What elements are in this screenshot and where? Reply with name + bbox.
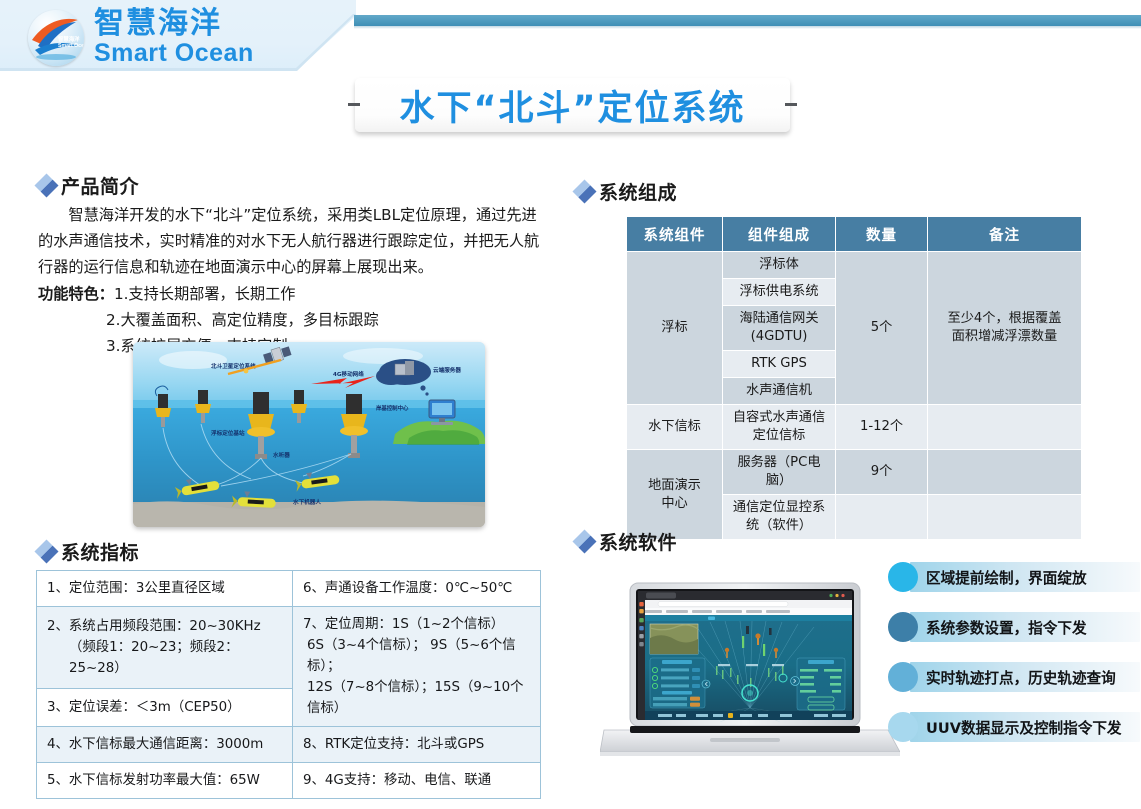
- comp-component-2: 水下信标: [627, 405, 723, 450]
- spec-cell-right-4: 9、4G支持：移动、电信、联通: [293, 763, 541, 799]
- comp-header-parts: 组件组成: [723, 217, 836, 252]
- svg-text:岸基控制中心: 岸基控制中心: [376, 404, 409, 412]
- table-row: 2、系统占用频段范围：20~30KHz （频段1：20~23；频段2：25~28…: [37, 607, 541, 689]
- feature-label: 功能特色：: [38, 285, 114, 303]
- spec-line: 3、定位误差：＜3m（CEP50）: [47, 700, 241, 715]
- svg-text:水下机器人: 水下机器人: [292, 498, 321, 506]
- table-row: 水下信标 自容式水声通信 定位信标 1-12个: [627, 405, 1082, 450]
- svg-text:浮标定位基站: 浮标定位基站: [211, 429, 245, 437]
- spec-cell-left-3: 3、定位误差：＜3m（CEP50）: [37, 689, 293, 727]
- section-heading-intro: 产品简介: [38, 172, 139, 199]
- comp-header-note: 备注: [928, 217, 1082, 252]
- section-heading-specs: 系统指标: [38, 538, 139, 565]
- table-row: 地面演示 中心 服务器（PC电脑） 9个: [627, 450, 1082, 495]
- section-title-specs: 系统指标: [61, 538, 139, 565]
- spec-cell-left-1: 1、定位范围：3公里直径区域: [37, 571, 293, 607]
- software-bullet-label-3: 实时轨迹打点，历史轨迹查询: [926, 667, 1116, 688]
- comp-header-qty: 数量: [836, 217, 928, 252]
- laptop-mockup: [600, 580, 900, 760]
- spec-cell-left-5: 5、水下信标发射功率最大值：65W: [37, 763, 293, 799]
- system-architecture-diagram: 北斗卫星定位系统 4G移动网络 云端服务器 岸基控制中心: [133, 342, 485, 527]
- table-row: 4、水下信标最大通信距离：3000m 8、RTK定位支持：北斗或GPS: [37, 727, 541, 763]
- svg-text:云端服务器: 云端服务器: [433, 366, 461, 374]
- comp-component-3: 地面演示 中心: [627, 450, 723, 540]
- diamond-bullet-icon: [34, 173, 58, 197]
- section-heading-software: 系统软件: [576, 528, 677, 555]
- section-heading-composition: 系统组成: [576, 178, 677, 205]
- spec-line: 8、RTK定位支持：北斗或GPS: [303, 737, 484, 752]
- table-header-row: 系统组件 组件组成 数量 备注: [627, 217, 1082, 252]
- comp-note-3b: [928, 495, 1082, 540]
- comp-part: 通信定位显控系 统（软件）: [723, 495, 836, 540]
- software-bullet-dot-icon: [888, 612, 918, 642]
- list-item[interactable]: 区域提前绘制，界面绽放: [888, 562, 1138, 592]
- spec-subline: （频段1：20~23；频段2：25~28）: [47, 637, 283, 679]
- list-item[interactable]: UUV数据显示及控制指令下发: [888, 712, 1138, 742]
- spec-table: 1、定位范围：3公里直径区域 6、声通设备工作温度：0℃~50℃ 2、系统占用频…: [36, 570, 541, 799]
- svg-text:智慧海洋: 智慧海洋: [57, 35, 80, 43]
- spec-cell-right-3: 8、RTK定位支持：北斗或GPS: [293, 727, 541, 763]
- software-bullet-label-1: 区域提前绘制，界面绽放: [926, 567, 1087, 588]
- spec-line: 9、4G支持：移动、电信、联通: [303, 773, 491, 788]
- brand-logo[interactable]: 智慧海洋 Smart Ocean 智慧海洋 Smart Ocean: [28, 9, 254, 66]
- spec-line: 1、定位范围：3公里直径区域: [47, 581, 225, 596]
- header-accent-bar: [354, 15, 1141, 26]
- software-bullet-label-2: 系统参数设置，指令下发: [926, 617, 1087, 638]
- comp-qty-3: 9个: [836, 450, 928, 495]
- page-title: 水下“北斗”定位系统: [355, 78, 790, 132]
- software-bullet-dot-icon: [888, 712, 918, 742]
- comp-note-2: [928, 405, 1082, 450]
- spec-line: 4、水下信标最大通信距离：3000m: [47, 737, 263, 752]
- software-bullet-label-4: UUV数据显示及控制指令下发: [926, 717, 1122, 738]
- comp-qty-1: 5个: [836, 252, 928, 405]
- intro-body: 智慧海洋开发的水下“北斗”定位系统，采用类LBL定位原理，通过先进的水声通信技术…: [38, 202, 548, 359]
- software-bullet-dot-icon: [888, 562, 918, 592]
- diamond-bullet-icon: [34, 539, 58, 563]
- title-tick-left: [348, 103, 360, 106]
- comp-part: 水声通信机: [723, 378, 836, 405]
- comp-header-component: 系统组件: [627, 217, 723, 252]
- list-item[interactable]: 实时轨迹打点，历史轨迹查询: [888, 662, 1138, 692]
- diamond-bullet-icon: [572, 529, 596, 553]
- feature-item-2: 2.大覆盖面积、高定位精度，多目标跟踪: [38, 307, 548, 333]
- title-tick-right: [785, 103, 797, 106]
- brand-name-en: Smart Ocean: [94, 41, 254, 66]
- section-title-software: 系统软件: [599, 528, 677, 555]
- table-row: 1、定位范围：3公里直径区域 6、声通设备工作温度：0℃~50℃: [37, 571, 541, 607]
- software-feature-list: 区域提前绘制，界面绽放 系统参数设置，指令下发 实时轨迹打点，历史轨迹查询 UU…: [888, 562, 1138, 762]
- spec-subline: 6S（3~4个信标）； 9S（5~6个信标）；: [303, 635, 531, 677]
- comp-part: RTK GPS: [723, 351, 836, 378]
- spec-cell-right-1: 6、声通设备工作温度：0℃~50℃: [293, 571, 541, 607]
- header-accent-bar-shadow: [354, 26, 1141, 29]
- svg-text:Smart Ocean: Smart Ocean: [58, 43, 84, 49]
- spec-cell-left-2: 2、系统占用频段范围：20~30KHz （频段1：20~23；频段2：25~28…: [37, 607, 293, 689]
- section-title-intro: 产品简介: [61, 172, 139, 199]
- spec-line: 2、系统占用频段范围：20~30KHz: [47, 619, 261, 634]
- comp-part: 浮标供电系统: [723, 279, 836, 306]
- software-bullet-dot-icon: [888, 662, 918, 692]
- composition-table: 系统组件 组件组成 数量 备注 浮标 浮标体 5个 至少4个，根据覆盖 面积增减…: [626, 216, 1082, 540]
- list-item[interactable]: 系统参数设置，指令下发: [888, 612, 1138, 642]
- svg-text:水听器: 水听器: [272, 451, 290, 459]
- spec-line: 5、水下信标发射功率最大值：65W: [47, 773, 260, 788]
- spec-subline: 12S（7~8个信标）；15S（9~10个信标）: [303, 677, 531, 719]
- comp-note-1: 至少4个，根据覆盖 面积增减浮漂数量: [928, 252, 1082, 405]
- wave-logo-icon: 智慧海洋 Smart Ocean: [28, 10, 84, 66]
- feature-item-1: 1.支持长期部署，长期工作: [114, 285, 296, 303]
- brand-name-cn: 智慧海洋: [94, 9, 254, 39]
- table-row: 浮标 浮标体 5个 至少4个，根据覆盖 面积增减浮漂数量: [627, 252, 1082, 279]
- spec-cell-right-2: 7、定位周期：1S（1~2个信标） 6S（3~4个信标）； 9S（5~6个信标）…: [293, 607, 541, 727]
- page-title-text: 水下“北斗”定位系统: [399, 80, 745, 131]
- comp-note-3: [928, 450, 1082, 495]
- section-title-composition: 系统组成: [599, 178, 677, 205]
- comp-part: 浮标体: [723, 252, 836, 279]
- spec-line: 7、定位周期：1S（1~2个信标）: [303, 617, 504, 632]
- intro-paragraph: 智慧海洋开发的水下“北斗”定位系统，采用类LBL定位原理，通过先进的水声通信技术…: [38, 202, 548, 280]
- page-header: 智慧海洋 Smart Ocean 智慧海洋 Smart Ocean: [0, 0, 1141, 72]
- comp-qty-3b: [836, 495, 928, 540]
- table-row: 5、水下信标发射功率最大值：65W 9、4G支持：移动、电信、联通: [37, 763, 541, 799]
- diamond-bullet-icon: [572, 179, 596, 203]
- comp-part: 海陆通信网关 (4GDTU): [723, 306, 836, 351]
- comp-qty-2: 1-12个: [836, 405, 928, 450]
- comp-part: 服务器（PC电脑）: [723, 450, 836, 495]
- comp-part: 自容式水声通信 定位信标: [723, 405, 836, 450]
- comp-component-1: 浮标: [627, 252, 723, 405]
- spec-cell-left-4: 4、水下信标最大通信距离：3000m: [37, 727, 293, 763]
- svg-text:4G移动网络: 4G移动网络: [333, 370, 364, 378]
- spec-line: 6、声通设备工作温度：0℃~50℃: [303, 581, 512, 596]
